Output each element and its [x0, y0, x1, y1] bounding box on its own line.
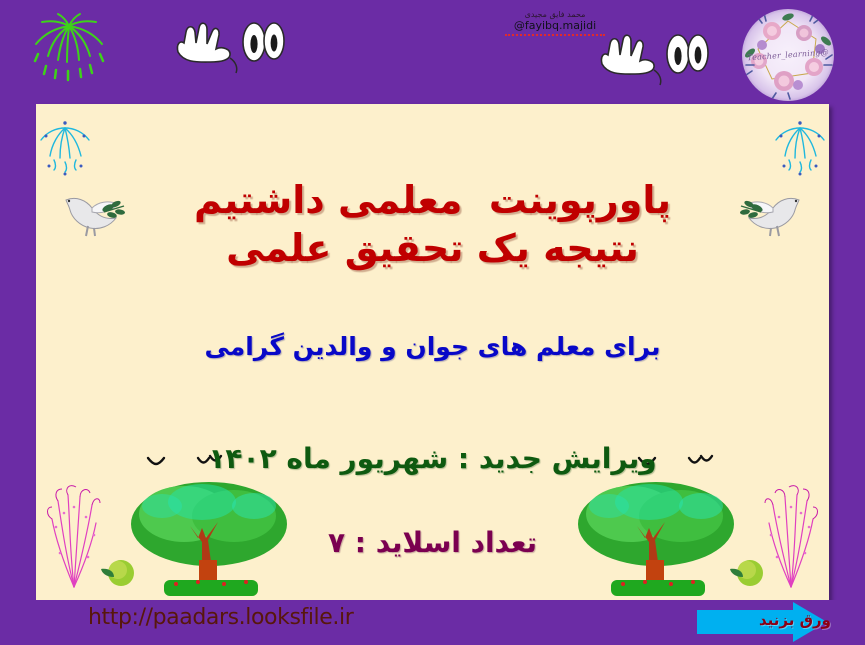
author-handle: @fayibq.majidi	[505, 20, 605, 36]
slide-title-line-1: پاورپوینت معلمی داشتیم	[36, 178, 829, 223]
floral-wreath-logo[interactable]: @Teacher_learning	[742, 9, 834, 101]
blue-sparkle-icon-left	[36, 118, 94, 176]
slide-count-line: تعداد اسلاید : ۷	[36, 526, 829, 559]
header-band: محمد فایق مجیدی @fayibq.majidi	[0, 0, 865, 105]
author-name: محمد فایق مجیدی	[505, 10, 605, 19]
slide-title-line-2: نتیجه یک تحقیق علمی	[36, 226, 829, 271]
pointing-hand-and-eyes-icon-2	[592, 28, 710, 90]
slide-version-line: ویرایش جدید : شهریور ماه ۱۴۰۲	[36, 442, 829, 475]
pointing-hand-and-eyes-icon	[168, 16, 286, 78]
slide-canvas: پاورپوینت معلمی داشتیم نتیجه یک تحقیق عل…	[36, 104, 829, 601]
green-apple-icon-left	[98, 555, 138, 589]
green-apple-icon-right	[727, 555, 767, 589]
author-credit: محمد فایق مجیدی @fayibq.majidi	[505, 10, 605, 36]
slide-subtitle: برای معلم های جوان و والدین گرامی	[36, 332, 829, 362]
blue-sparkle-icon-right	[771, 118, 829, 176]
footer-band: http://paadars.looksfile.ir ورق بزنید	[0, 600, 865, 645]
green-firework-icon	[22, 8, 116, 88]
next-slide-label: ورق بزنید	[759, 611, 831, 629]
presentation-stage: محمد فایق مجیدی @fayibq.majidi	[0, 0, 865, 645]
site-url-link[interactable]: http://paadars.looksfile.ir	[88, 605, 353, 630]
